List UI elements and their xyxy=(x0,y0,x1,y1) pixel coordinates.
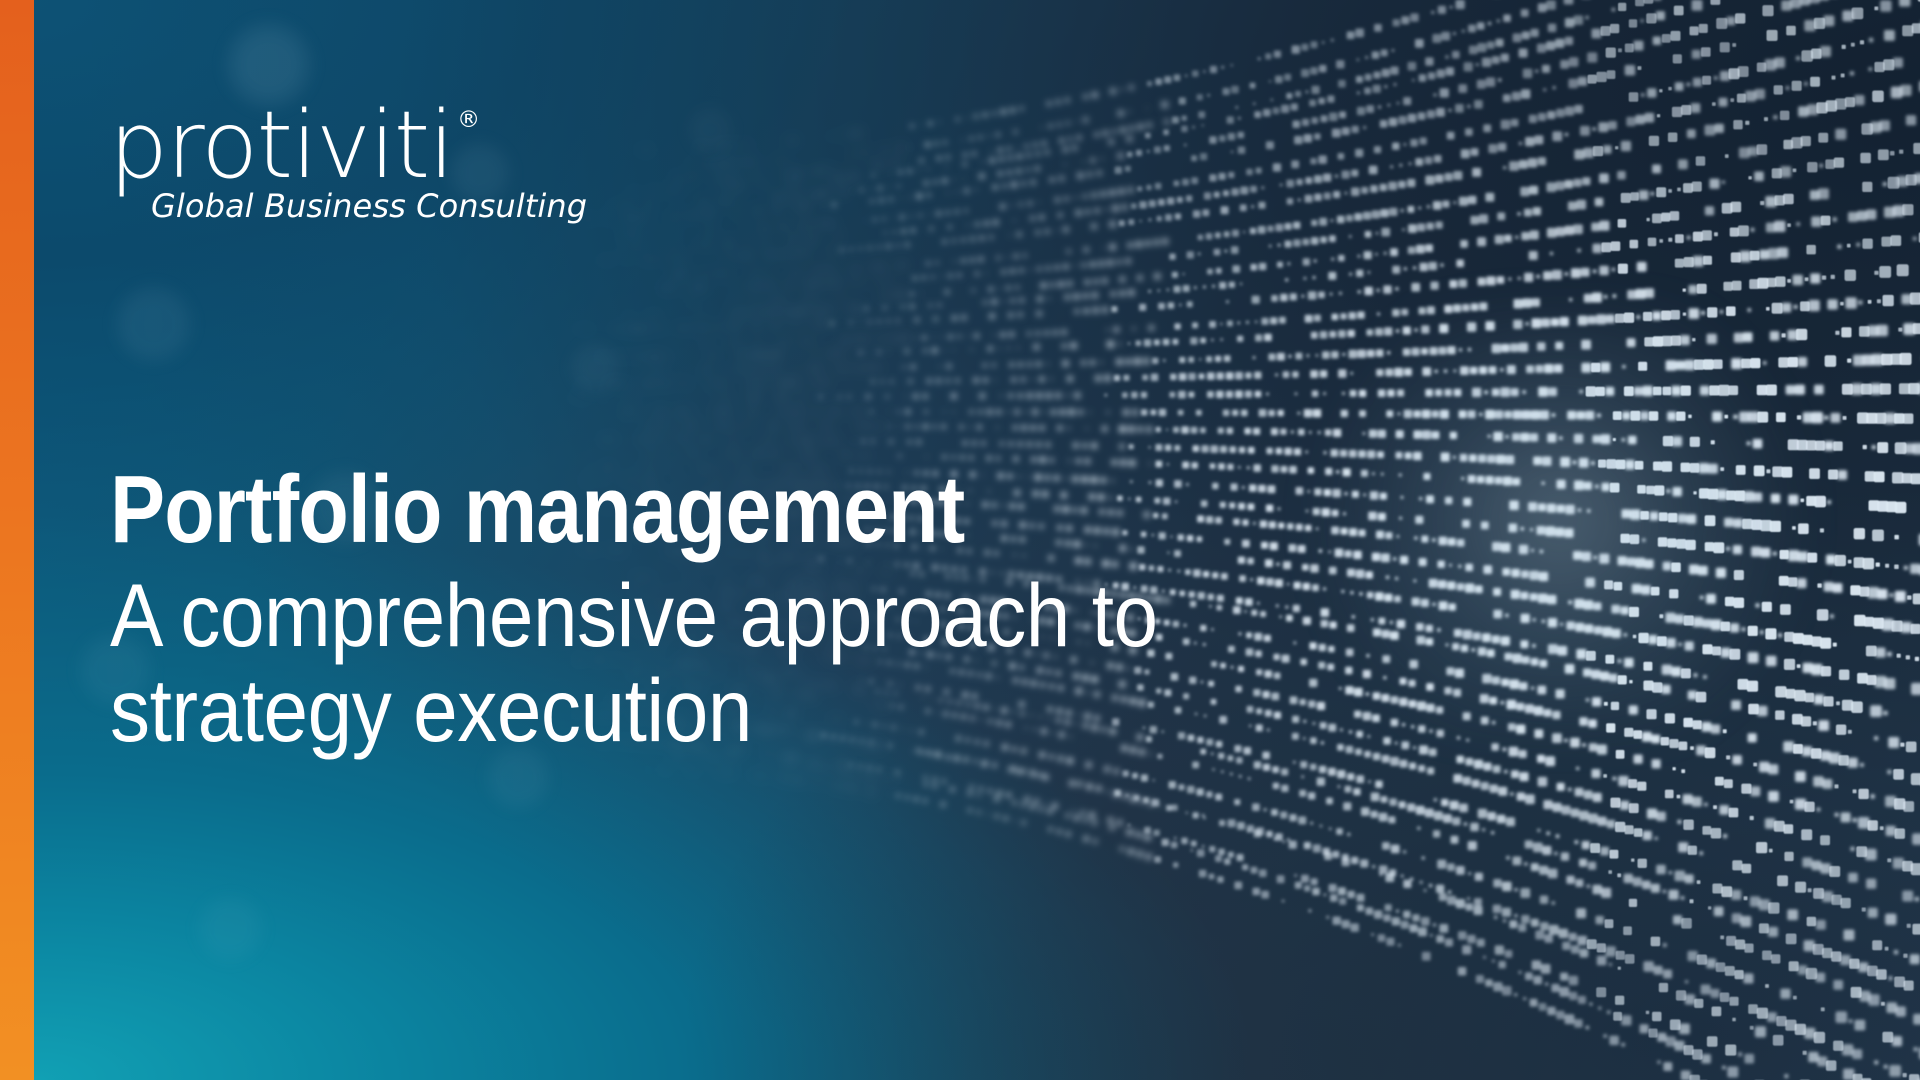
brand-wordmark: protiviti® xyxy=(109,100,453,191)
page-subtitle-line-2: strategy execution xyxy=(110,663,1460,758)
registered-trademark-icon: ® xyxy=(457,109,480,132)
page-subtitle: A comprehensive approach to strategy exe… xyxy=(110,568,1460,758)
page-subtitle-line-1: A comprehensive approach to xyxy=(110,568,1460,663)
page-title: Portfolio management xyxy=(110,462,1400,558)
cover-headline: Portfolio management A comprehensive app… xyxy=(110,462,1610,758)
brand-logo: protiviti® Global Business Consulting xyxy=(109,100,629,225)
brand-wordmark-text: protiviti xyxy=(109,91,453,199)
orange-accent-rail xyxy=(0,0,34,1080)
cover-page: protiviti® Global Business Consulting Po… xyxy=(0,0,1920,1080)
